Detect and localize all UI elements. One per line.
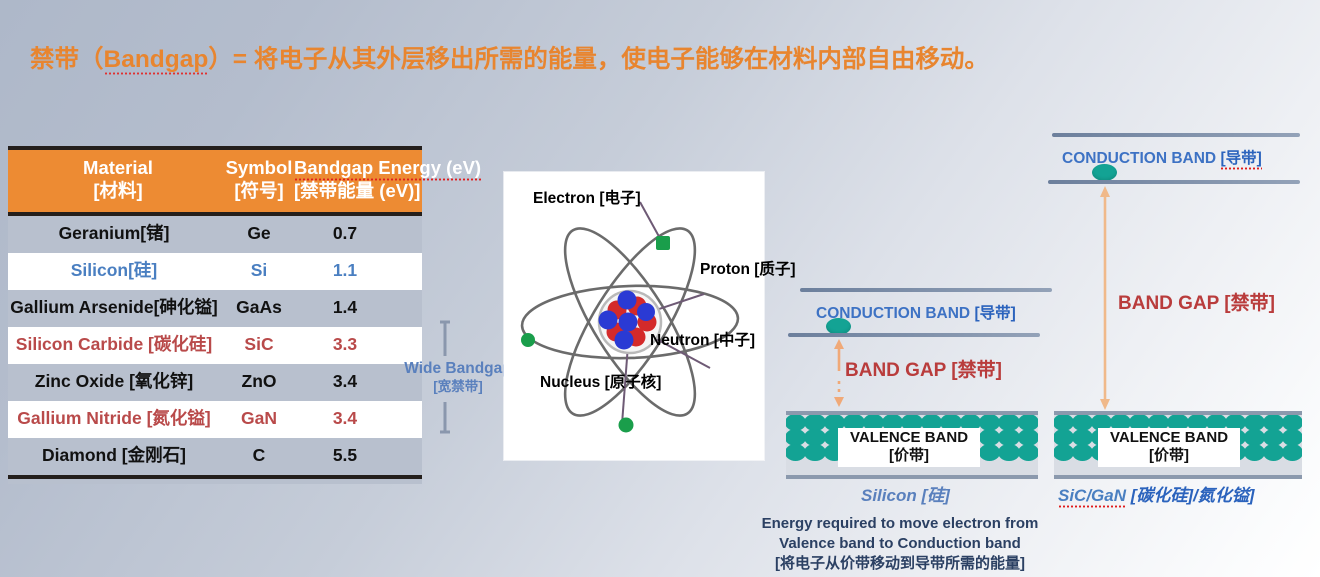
valence-electron: [979, 444, 1000, 461]
bandgap-table: Material [材料] Symbol [符号] Bandgap Energy…: [8, 146, 422, 484]
cell-material: Silicon Carbide [碳化硅]: [8, 334, 220, 355]
atom-icon: [504, 172, 764, 460]
valence-electron: [1018, 444, 1038, 461]
sicgan-conduction-band-label: CONDUCTION BAND [导带]: [1062, 146, 1262, 168]
table-row: Zinc Oxide [氧化锌]ZnO3.4: [8, 364, 422, 401]
atom-label-proton: Proton [质子]: [700, 257, 796, 279]
cell-symbol: SiC: [220, 334, 298, 355]
table-row: Silicon[硅]Si1.1: [8, 253, 422, 290]
cell-symbol: Si: [220, 260, 298, 281]
sicgan-conduction-electron: [1092, 164, 1117, 181]
table-body: Geranium[锗]Ge0.7Silicon[硅]Si1.1Gallium A…: [8, 216, 422, 475]
valence-electron: [1072, 444, 1093, 461]
atom-label-electron: Electron [电子]: [533, 186, 641, 208]
cell-material: Gallium Arsenide[砷化镒]: [8, 297, 220, 318]
header-bandgap-energy: Bandgap Energy (eV) [禁带能量 (eV)]: [294, 157, 514, 202]
table-row: Gallium Arsenide[砷化镒]GaAs1.4: [8, 290, 422, 327]
cell-material: Silicon[硅]: [8, 260, 220, 281]
valence-electron: [1244, 444, 1265, 461]
cell-bandgap-value: 1.4: [300, 297, 390, 318]
silicon-valence-band-label: VALENCE BAND [价带]: [838, 428, 980, 467]
cell-symbol: GaN: [220, 408, 298, 429]
valence-electron: [998, 444, 1019, 461]
sicgan-material-label: SiC/GaN [碳化硅]/氮化镒]: [1058, 481, 1254, 506]
table-row: Geranium[锗]Ge0.7: [8, 216, 422, 253]
table-row: Silicon Carbide [碳化硅]SiC3.3: [8, 327, 422, 364]
valence-electron: [1263, 444, 1284, 461]
page-title: 禁带（Bandgap）= 将电子从其外层移出所需的能量，使电子能够在材料内部自由…: [30, 40, 1030, 75]
valence-electron: [804, 444, 825, 461]
valence-electron: [1054, 444, 1074, 461]
cell-bandgap-value: 0.7: [300, 223, 390, 244]
cell-bandgap-value: 3.4: [300, 371, 390, 392]
title-prefix: 禁带（: [30, 46, 104, 73]
cell-symbol: Ge: [220, 223, 298, 244]
table-row: Diamond [金刚石]C5.5: [8, 438, 422, 475]
sicgan-bandgap-arrow-icon: [1092, 184, 1118, 412]
cell-symbol: GaAs: [220, 297, 298, 318]
cell-material: Zinc Oxide [氧化锌]: [8, 371, 220, 392]
cell-material: Geranium[锗]: [8, 223, 220, 244]
title-bandgap-term: Bandgap: [104, 46, 209, 73]
cell-material: Gallium Nitride [氮化镒]: [8, 408, 220, 429]
valence-electron: [1282, 444, 1302, 461]
atom-label-neutron: Neutron [中子]: [650, 328, 755, 350]
table-bottom-border: [8, 475, 422, 484]
atom-label-nucleus: Nucleus [原子核]: [540, 370, 661, 392]
sicgan-band-gap-label: BAND GAP [禁带]: [1118, 288, 1275, 315]
silicon-band-gap-label: BAND GAP [禁带]: [845, 355, 1002, 382]
cell-symbol: ZnO: [220, 371, 298, 392]
table-row: Gallium Nitride [氮化镒]GaN3.4: [8, 401, 422, 438]
sicgan-conduction-band-bottom-line: [1048, 180, 1300, 184]
table-header-row: Material [材料] Symbol [符号] Bandgap Energy…: [8, 146, 422, 216]
atom-diagram-panel: [504, 172, 764, 460]
slide-canvas: 禁带（Bandgap）= 将电子从其外层移出所需的能量，使电子能够在材料内部自由…: [0, 0, 1320, 577]
cell-bandgap-value: 3.3: [300, 334, 390, 355]
cell-bandgap-value: 3.4: [300, 408, 390, 429]
sicgan-conduction-band-top-line: [1052, 133, 1300, 137]
silicon-conduction-band-top-line: [800, 288, 1052, 292]
cell-bandgap-value: 5.5: [300, 445, 390, 466]
header-material: Material [材料]: [20, 157, 216, 202]
cell-bandgap-value: 1.1: [300, 260, 390, 281]
valence-electron: [786, 444, 806, 461]
title-suffix: ）= 将电子从其外层移出所需的能量，使电子能够在材料内部自由移动。: [208, 46, 989, 73]
cell-symbol: C: [220, 445, 298, 466]
bottom-caption: Energy required to move electron from Va…: [690, 514, 1110, 574]
silicon-material-label: Silicon [硅]: [861, 481, 950, 506]
sicgan-valence-band-label: VALENCE BAND [价带]: [1098, 428, 1240, 467]
cell-material: Diamond [金刚石]: [8, 445, 220, 466]
